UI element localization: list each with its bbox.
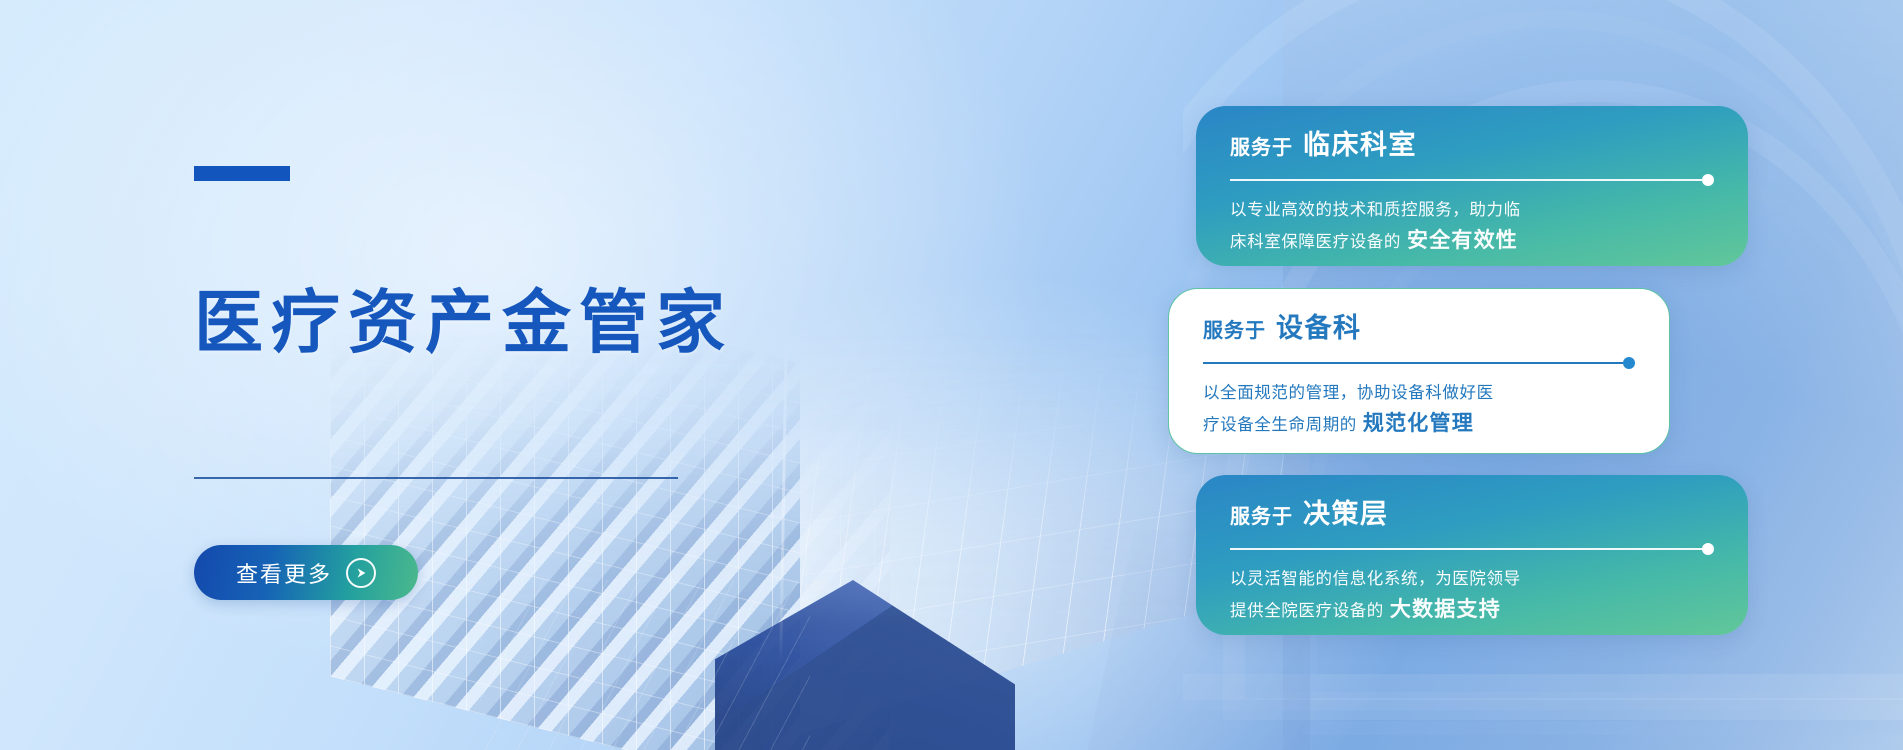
view-more-label: 查看更多: [236, 557, 332, 589]
card-heading-target: 临床科室: [1303, 132, 1417, 159]
card-body-line-1: 以专业高效的技术和质控服务，助力临: [1230, 201, 1521, 219]
page-title: 医疗资产金管家: [194, 288, 733, 357]
card-body-highlight: 大数据支持: [1390, 598, 1501, 621]
divider: [194, 477, 678, 479]
card-body-line-2: 提供全院医疗设备的: [1230, 602, 1384, 620]
card-heading-target: 决策层: [1303, 501, 1389, 528]
card-body-highlight: 安全有效性: [1407, 229, 1518, 252]
card-heading-prefix: 服务于: [1203, 321, 1266, 341]
card-rule-dot-icon: [1623, 357, 1635, 369]
service-card-clinical[interactable]: 服务于 临床科室 以专业高效的技术和质控服务，助力临 床科室保障医疗设备的安全有…: [1196, 106, 1748, 266]
hero-left-column: 医疗资产金管家 查看更多: [194, 0, 754, 750]
accent-bar: [194, 166, 290, 181]
card-heading: 服务于 临床科室: [1230, 132, 1714, 159]
card-rule-dot-icon: [1702, 174, 1714, 186]
arrow-right-circle-icon: [346, 558, 376, 588]
card-heading-prefix: 服务于: [1230, 507, 1293, 527]
card-heading-target: 设备科: [1276, 315, 1362, 342]
service-card-decision-makers[interactable]: 服务于 决策层 以灵活智能的信息化系统，为医院领导 提供全院医疗设备的大数据支持: [1196, 475, 1748, 635]
card-rule-line: [1203, 362, 1623, 364]
card-body-line-2: 床科室保障医疗设备的: [1230, 233, 1401, 251]
card-body: 以全面规范的管理，协助设备科做好医 疗设备全生命周期的规范化管理: [1203, 380, 1635, 441]
view-more-button[interactable]: 查看更多: [194, 545, 418, 600]
card-rule-dot-icon: [1702, 543, 1714, 555]
hero-banner: 医疗资产金管家 查看更多 服务于 临床科室 以专业高效的技术和质控服务，: [0, 0, 1903, 750]
card-rule: [1230, 175, 1714, 185]
card-rule-line: [1230, 179, 1702, 181]
card-rule: [1230, 544, 1714, 554]
card-heading: 服务于 设备科: [1203, 315, 1635, 342]
card-body-line-1: 以灵活智能的信息化系统，为医院领导: [1230, 570, 1521, 588]
card-heading-prefix: 服务于: [1230, 138, 1293, 158]
card-body: 以专业高效的技术和质控服务，助力临 床科室保障医疗设备的安全有效性: [1230, 197, 1714, 258]
card-rule: [1203, 358, 1635, 368]
card-body: 以灵活智能的信息化系统，为医院领导 提供全院医疗设备的大数据支持: [1230, 566, 1714, 627]
card-body-line-2: 疗设备全生命周期的: [1203, 416, 1357, 434]
card-body-highlight: 规范化管理: [1363, 412, 1474, 435]
service-card-equipment-dept[interactable]: 服务于 设备科 以全面规范的管理，协助设备科做好医 疗设备全生命周期的规范化管理: [1168, 288, 1670, 454]
card-body-line-1: 以全面规范的管理，协助设备科做好医: [1203, 384, 1494, 402]
card-rule-line: [1230, 548, 1702, 550]
card-heading: 服务于 决策层: [1230, 501, 1714, 528]
